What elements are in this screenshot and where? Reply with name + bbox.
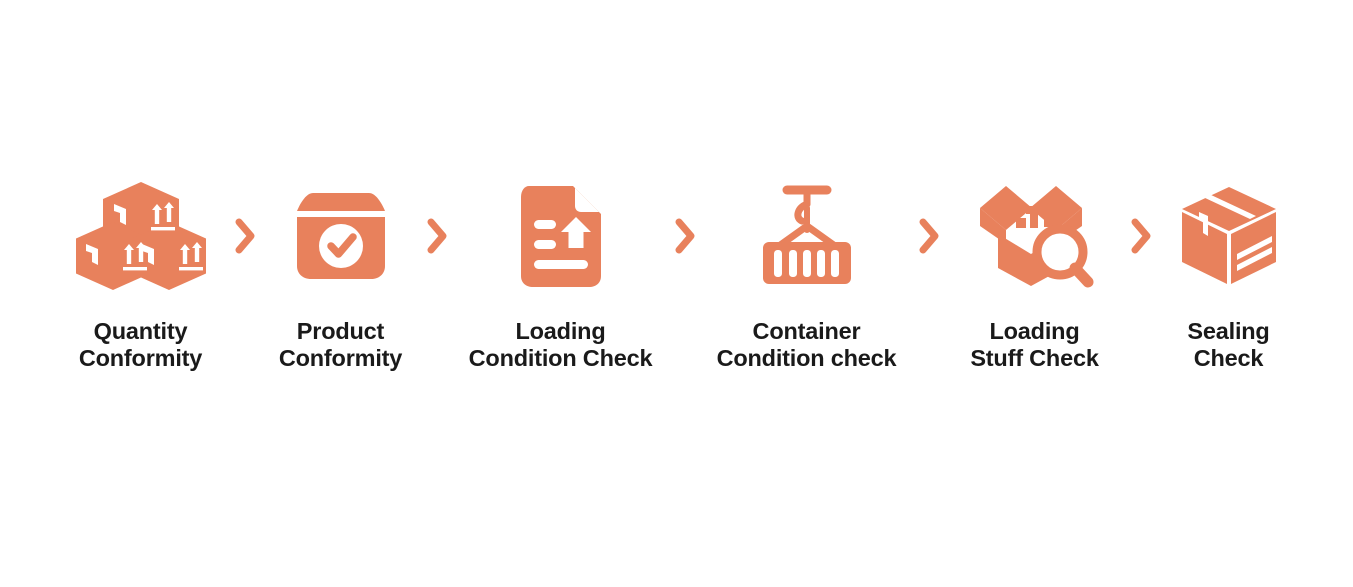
open-box-magnifier-icon — [972, 180, 1098, 292]
process-step-loading-condition-check[interactable]: Loading Condition Check — [465, 180, 657, 372]
stacked-boxes-icon — [76, 180, 206, 292]
process-step-product-conformity[interactable]: Product Conformity — [273, 180, 409, 372]
process-flow: Quantity Conformity Product Conformity — [0, 0, 1353, 587]
process-step-loading-stuff-check[interactable]: Loading Stuff Check — [957, 180, 1113, 372]
step-label: Sealing Check — [1187, 318, 1269, 372]
step-label: Loading Stuff Check — [970, 318, 1098, 372]
chevron-right-icon — [901, 180, 957, 292]
chevron-right-icon — [657, 180, 713, 292]
sealed-box-icon — [1177, 180, 1281, 292]
step-label: Container Condition check — [717, 318, 897, 372]
chevron-right-icon — [217, 180, 273, 292]
box-check-icon — [291, 180, 391, 292]
process-step-sealing-check[interactable]: Sealing Check — [1169, 180, 1289, 372]
document-upload-icon — [519, 180, 603, 292]
chevron-right-icon — [409, 180, 465, 292]
step-label: Product Conformity — [279, 318, 402, 372]
chevron-right-icon — [1113, 180, 1169, 292]
process-step-container-condition-check[interactable]: Container Condition check — [713, 180, 901, 372]
process-step-quantity-conformity[interactable]: Quantity Conformity — [65, 180, 217, 372]
step-label: Quantity Conformity — [79, 318, 202, 372]
shipping-container-hook-icon — [757, 180, 857, 292]
step-label: Loading Condition Check — [469, 318, 653, 372]
